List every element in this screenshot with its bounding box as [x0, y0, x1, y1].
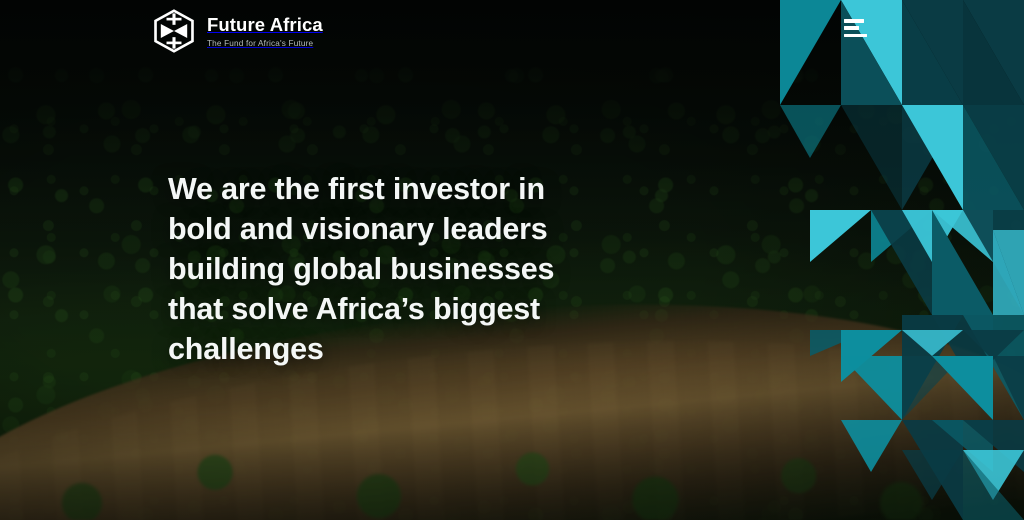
hero-headline: We are the first investor in bold and vi…	[168, 170, 588, 370]
headline-line-1: We are the first investor in	[168, 170, 588, 210]
triangle-pattern-decoration	[780, 0, 1024, 520]
brand-text-block: Future Africa The Fund for Africa's Futu…	[207, 14, 323, 47]
menu-bar-1	[844, 19, 864, 23]
brand-tagline: The Fund for Africa's Future	[207, 39, 323, 48]
headline-line-2: bold and visionary leaders	[168, 210, 588, 250]
menu-bar-3	[844, 34, 867, 38]
headline-line-5: challenges	[168, 330, 588, 370]
brand-name: Future Africa	[207, 14, 323, 35]
hero-section: Future Africa The Fund for Africa's Futu…	[0, 0, 1024, 520]
site-header: Future Africa The Fund for Africa's Futu…	[0, 0, 1024, 62]
headline-line-4: that solve Africa’s biggest	[168, 290, 588, 330]
brand-logo-link[interactable]: Future Africa The Fund for Africa's Futu…	[152, 9, 323, 53]
hamburger-menu-icon[interactable]	[844, 16, 872, 40]
headline-line-3: building global businesses	[168, 250, 588, 290]
hexagon-logo-icon	[152, 9, 196, 53]
menu-bar-2	[844, 26, 859, 30]
